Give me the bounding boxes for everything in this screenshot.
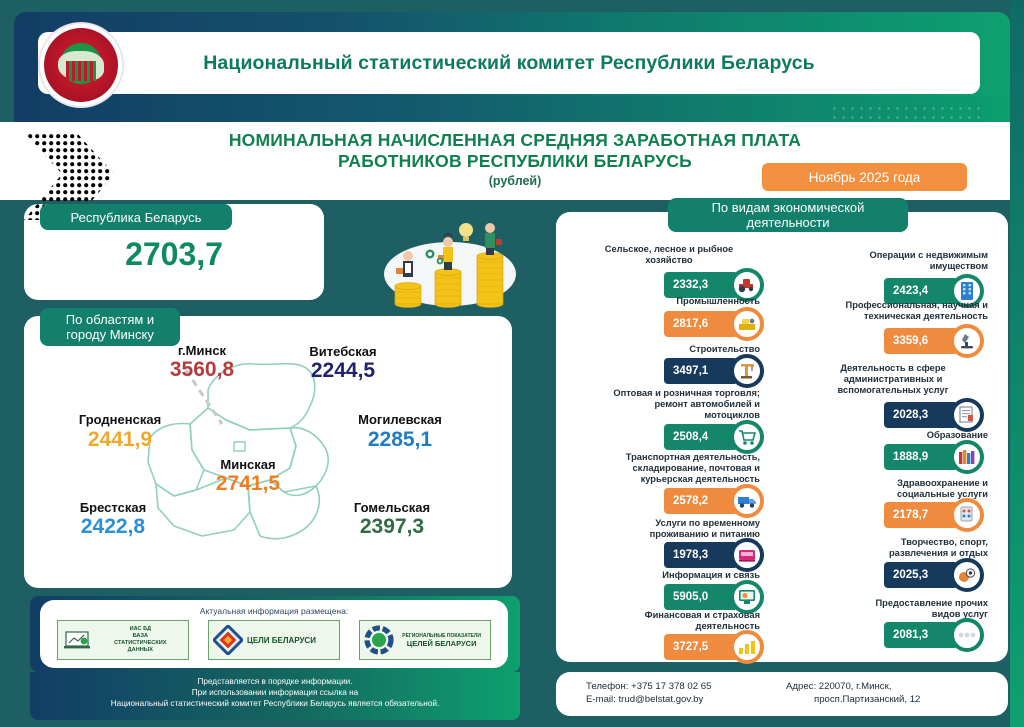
eco-value: 2081,3 — [884, 622, 958, 648]
eco-label: Творчество, спорт, развлечения и отдых — [820, 537, 988, 559]
logo-statistics-database-label: ИАС БД БАЗА СТАТИСТИЧЕСКИХ ДАННЫХ — [96, 626, 184, 654]
eco-value: 3359,6 — [884, 328, 958, 354]
region-label-mogilev: Могилевская — [340, 412, 460, 427]
eco-label: Промышленность — [604, 296, 760, 307]
eco-value: 3497,1 — [664, 358, 738, 384]
eco-value: 2332,3 — [664, 272, 738, 298]
logo-regional-goals[interactable]: РЕГИОНАЛЬНЫЕ ПОКАЗАТЕЛИ ЦЕЛЕЙ БЕЛАРУСИ — [359, 620, 491, 660]
region-label-brest: Брестская — [58, 500, 168, 515]
region-value-mogilev: 2285,1 — [340, 428, 460, 452]
region-value-minsk-city: 3560,8 — [142, 358, 262, 382]
republic-value: 2703,7 — [24, 236, 324, 273]
eco-value: 2508,4 — [664, 424, 738, 450]
pills-icon — [950, 498, 984, 532]
organization-name: Национальный статистический комитет Респ… — [203, 52, 815, 75]
sdg-wheel-icon — [364, 625, 394, 655]
eco-label: Строительство — [612, 344, 760, 355]
infographic-page: Национальный статистический комитет Респ… — [0, 0, 1024, 727]
logos-caption: Актуальная информация размещена: — [40, 606, 508, 616]
ellipsis-icon — [950, 618, 984, 652]
logo-line2: БАЗА СТАТИСТИЧЕСКИХ ДАННЫХ — [96, 633, 184, 654]
shopping-cart-icon — [730, 420, 764, 454]
eco-label: Услуги по временному проживанию и питани… — [596, 518, 760, 540]
eco-value: 5905,0 — [664, 584, 738, 610]
eco-value: 2025,3 — [884, 562, 958, 588]
sports-balls-icon — [950, 558, 984, 592]
logo-statistics-database[interactable]: ИАС БД БАЗА СТАТИСТИЧЕСКИХ ДАННЫХ — [57, 620, 189, 660]
logo-regional-goals-label: РЕГИОНАЛЬНЫЕ ПОКАЗАТЕЛИ ЦЕЛЕЙ БЕЛАРУСИ — [398, 633, 486, 647]
disclaimer-text: Представляется в порядке информации. При… — [30, 676, 520, 709]
computer-monitor-icon — [730, 580, 764, 614]
contact-phone-email: Телефон: +375 17 378 02 65 E-mail: trud@… — [586, 680, 786, 706]
region-label-grodno: Гродненская — [60, 412, 180, 427]
eco-label: Здравоохранение и социальные услуги — [820, 478, 988, 500]
sdg-diamond-icon — [213, 625, 243, 655]
belarus-statistics-emblem-icon — [38, 22, 124, 108]
eco-value: 2178,7 — [884, 502, 958, 528]
documents-icon — [950, 398, 984, 432]
eco-value: 2578,2 — [664, 488, 738, 514]
logos-row: ИАС БД БАЗА СТАТИСТИЧЕСКИХ ДАННЫХ ЦЕЛИ Б… — [48, 620, 500, 660]
economic-activities-tab-label: По видам экономической деятельности — [668, 198, 908, 232]
microscope-icon — [950, 324, 984, 358]
crane-icon — [730, 354, 764, 388]
region-label-minsk-oblast: Минская — [198, 457, 298, 472]
republic-tab-label: Республика Беларусь — [40, 204, 232, 230]
logo-line2: ЦЕЛЕЙ БЕЛАРУСИ — [398, 640, 486, 647]
eco-label: Сельское, лесное и рыбное хозяйство — [578, 244, 760, 266]
contact-address: Адрес: 220070, г.Минск, просп.Партизанск… — [786, 680, 1006, 706]
coins-chart-icon — [730, 630, 764, 664]
hotel-bed-icon — [730, 538, 764, 572]
factory-machine-icon — [730, 307, 764, 341]
contact-email[interactable]: E-mail: trud@belstat.gov.by — [586, 693, 786, 706]
contact-address-line2: просп.Партизанский, 12 — [786, 693, 1006, 706]
books-icon — [950, 440, 984, 474]
region-label-vitebsk: Витебская — [288, 344, 398, 359]
region-value-brest: 2422,8 — [58, 515, 168, 539]
eco-label: Транспортная деятельность, складирование… — [574, 452, 760, 486]
logo-line1: ИАС БД — [96, 626, 184, 633]
region-value-vitebsk: 2244,5 — [288, 359, 398, 383]
eco-label: Финансовая и страховая деятельность — [580, 610, 760, 632]
laptop-chart-icon — [62, 625, 92, 655]
logo-goals-belarus-label: ЦЕЛИ БЕЛАРУСИ — [247, 637, 335, 644]
eco-value: 2028,3 — [884, 402, 958, 428]
region-value-grodno: 2441,9 — [60, 428, 180, 452]
eco-label: Предоставление прочих видов услуг — [806, 598, 988, 620]
eco-label: Операции с недвижимым имуществом — [806, 250, 988, 272]
logo-goals-belarus[interactable]: ЦЕЛИ БЕЛАРУСИ — [208, 620, 340, 660]
right-edge-accent — [1010, 0, 1024, 727]
region-value-gomel: 2397,3 — [332, 515, 452, 539]
contact-phone: Телефон: +375 17 378 02 65 — [586, 680, 786, 693]
page-title-line1: НОМИНАЛЬНАЯ НАЧИСЛЕННАЯ СРЕДНЯЯ ЗАРАБОТН… — [120, 130, 910, 151]
eco-value: 2817,6 — [664, 311, 738, 337]
regions-tab-label: По областям и городу Минску — [40, 308, 180, 346]
eco-label: Информация и связь — [600, 570, 760, 581]
eco-label: Профессиональная, научная и техническая … — [774, 300, 988, 322]
truck-icon — [730, 484, 764, 518]
eco-label: Деятельность в сфере административных и … — [798, 363, 988, 397]
contact-address-line1: Адрес: 220070, г.Минск, — [786, 680, 1006, 693]
period-badge: Ноябрь 2025 года — [762, 163, 967, 191]
people-on-coin-stacks-illustration-icon — [378, 212, 528, 312]
eco-label: Оптовая и розничная торговля; ремонт авт… — [566, 388, 760, 422]
eco-value: 1888,9 — [884, 444, 958, 470]
eco-value: 3727,5 — [664, 634, 738, 660]
region-label-gomel: Гомельская — [332, 500, 452, 515]
eco-value: 1978,3 — [664, 542, 738, 568]
region-value-minsk-oblast: 2741,5 — [188, 472, 308, 496]
header-title-plate: Национальный статистический комитет Респ… — [38, 32, 980, 94]
